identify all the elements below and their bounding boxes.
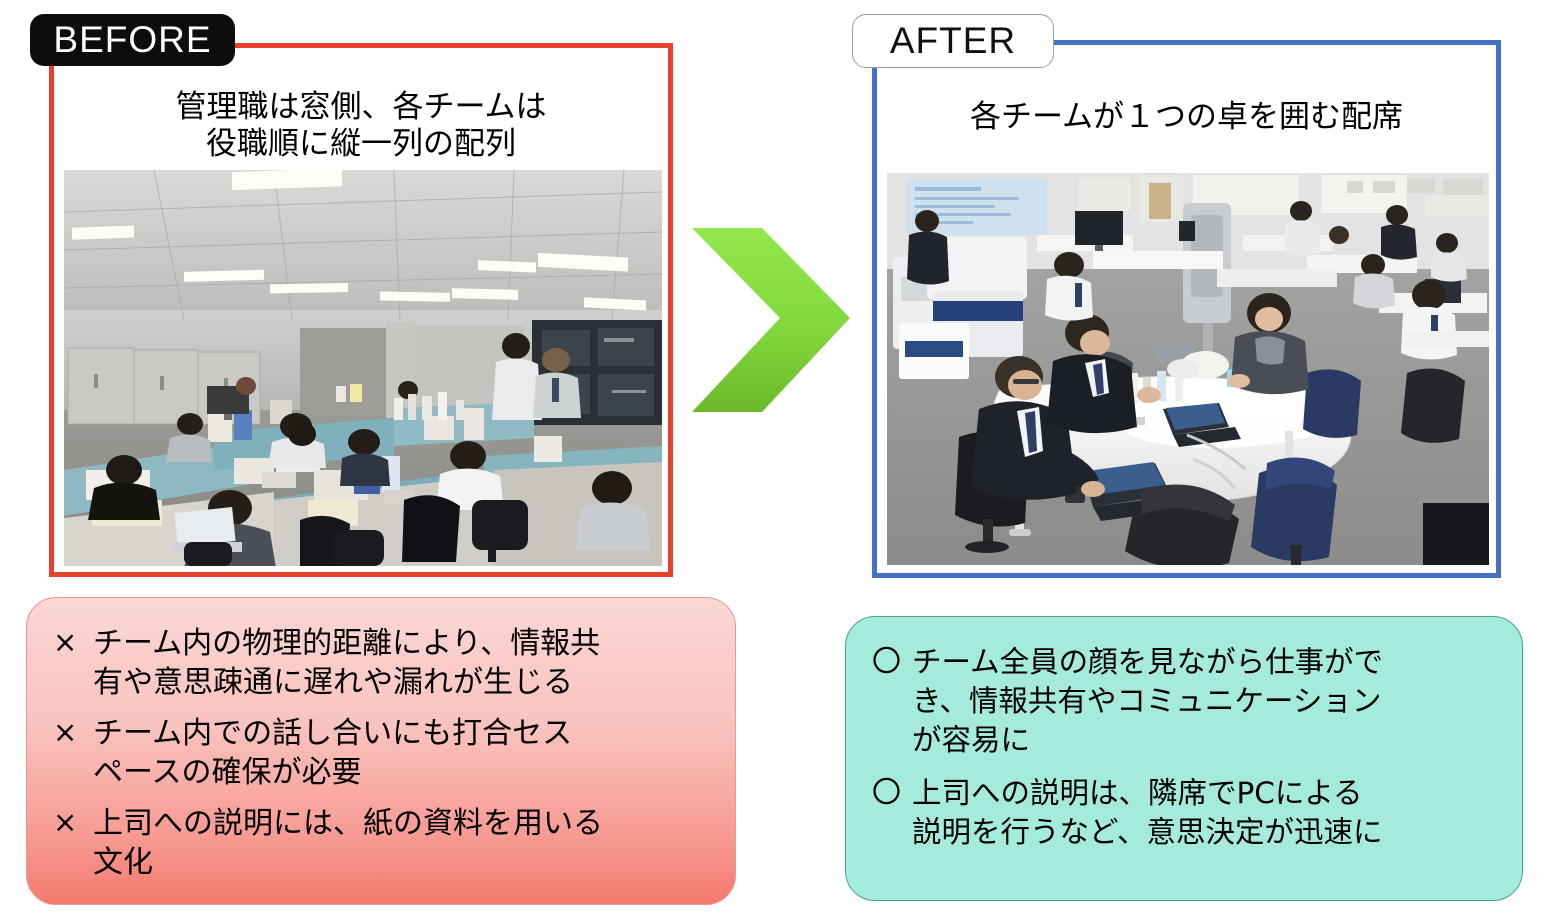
list-item: 〇 上司への説明は、隣席でPCによる 説明を行うなど、意思決定が迅速に: [872, 774, 1500, 852]
list-item-text: 上司への説明には、紙の資料を用いる 文化: [93, 804, 713, 882]
list-item-text: チーム内での話し合いにも打合セス ペースの確保が必要: [93, 714, 713, 792]
after-photo-artwork: [887, 173, 1489, 565]
before-badge-label: BEFORE: [53, 19, 211, 61]
transition-arrow: [688, 222, 854, 418]
before-caption: 管理職は窓側、各チームは 役職順に縦一列の配列: [54, 89, 668, 162]
after-benefits-box: 〇 チーム全員の顔を見ながら仕事がで き、情報共有やコミュニケーション が容易に…: [845, 616, 1523, 901]
cross-mark-icon: ×: [53, 624, 93, 662]
after-panel: 各チームが１つの卓を囲む配席: [872, 40, 1501, 578]
cross-mark-icon: ×: [53, 804, 93, 842]
list-item: × 上司への説明には、紙の資料を用いる 文化: [53, 804, 713, 882]
before-photo: [64, 170, 662, 566]
list-item: 〇 チーム全員の顔を見ながら仕事がで き、情報共有やコミュニケーション が容易に: [872, 643, 1500, 760]
cross-mark-icon: ×: [53, 714, 93, 752]
list-item-text: チーム全員の顔を見ながら仕事がで き、情報共有やコミュニケーション が容易に: [912, 643, 1500, 760]
list-item: × チーム内での話し合いにも打合セス ペースの確保が必要: [53, 714, 713, 792]
chevron-right-arrow-icon: [688, 222, 854, 418]
list-item-text: チーム内の物理的距離により、情報共 有や意思疎通に遅れや漏れが生じる: [93, 624, 713, 702]
list-item-text: 上司への説明は、隣席でPCによる 説明を行うなど、意思決定が迅速に: [912, 774, 1500, 852]
before-photo-artwork: [64, 170, 662, 566]
circle-mark-icon: 〇: [872, 774, 912, 812]
before-panel: 管理職は窓側、各チームは 役職順に縦一列の配列: [49, 43, 673, 577]
after-badge: AFTER: [852, 14, 1054, 68]
after-photo: [887, 173, 1489, 565]
after-badge-label: AFTER: [890, 20, 1016, 62]
circle-mark-icon: 〇: [872, 643, 912, 681]
after-caption: 各チームが１つの卓を囲む配席: [877, 99, 1496, 136]
before-issues-box: × チーム内の物理的距離により、情報共 有や意思疎通に遅れや漏れが生じる × チ…: [26, 597, 736, 905]
list-item: × チーム内の物理的距離により、情報共 有や意思疎通に遅れや漏れが生じる: [53, 624, 713, 702]
before-badge: BEFORE: [30, 14, 235, 66]
